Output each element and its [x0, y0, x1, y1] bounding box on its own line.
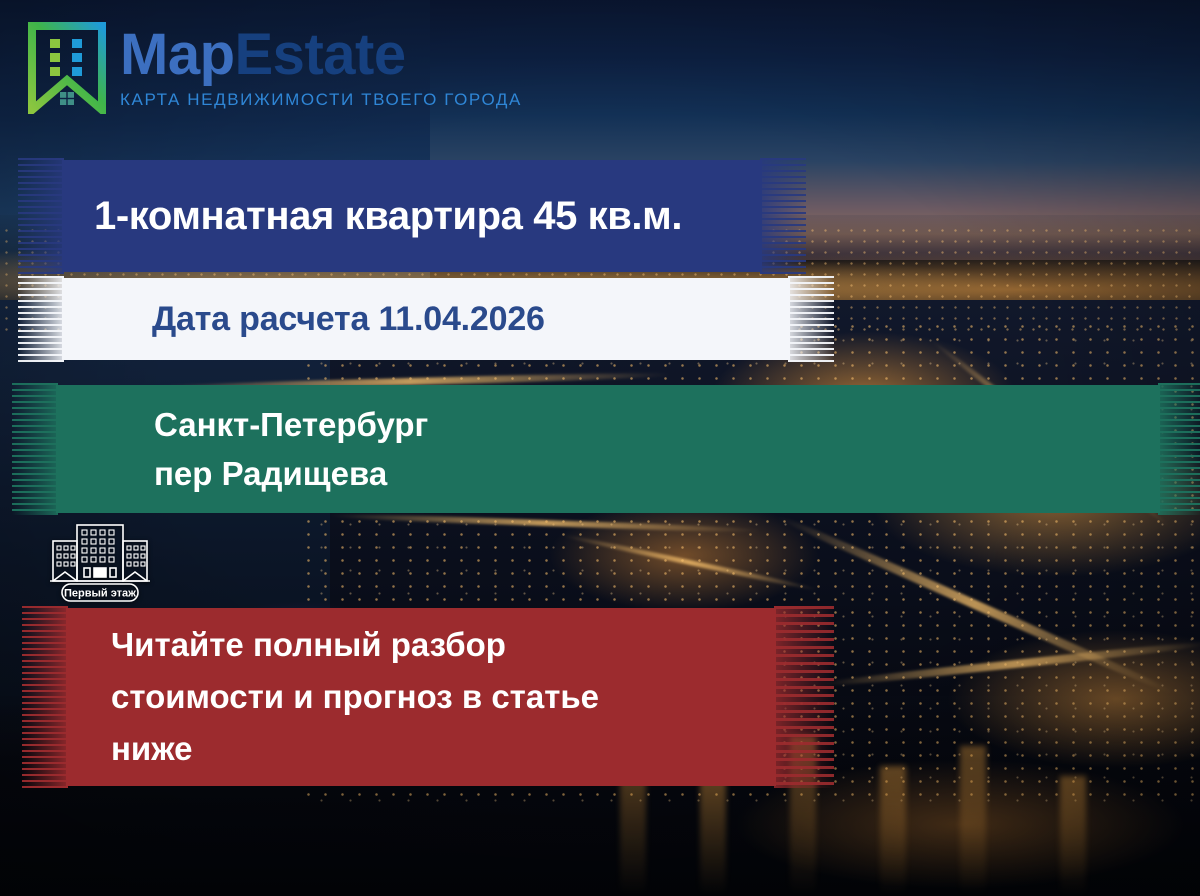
cta-line-3: ниже	[66, 723, 776, 775]
cta-line-2: стоимости и прогноз в статье	[66, 671, 776, 723]
city-name: Санкт-Петербург	[56, 400, 1160, 449]
cta-line-1: Читайте полный разбор	[66, 619, 776, 671]
page-title: 1-комнатная квартира 45 кв.м.	[62, 194, 762, 239]
brand-logo[interactable]: MapEstate КАРТА НЕДВИЖИМОСТИ ТВОЕГО ГОРО…	[28, 22, 522, 114]
watermark-badge: Первый этаж	[48, 508, 152, 604]
location-band: Санкт-Петербург пер Радищева	[56, 385, 1160, 513]
brand-title-part1: Map	[120, 22, 235, 87]
building-facade-icon: Первый этаж	[48, 508, 152, 604]
street-name: пер Радищева	[56, 449, 1160, 498]
brand-wordmark: MapEstate КАРТА НЕДВИЖИМОСТИ ТВОЕГО ГОРО…	[120, 22, 522, 110]
bookmark-building-icon	[28, 22, 106, 114]
headline-band: 1-комнатная квартира 45 кв.м.	[62, 160, 762, 272]
poster: MapEstate КАРТА НЕДВИЖИМОСТИ ТВОЕГО ГОРО…	[0, 0, 1200, 896]
date-band: Дата расчета 11.04.2026	[62, 278, 790, 360]
watermark-label: Первый этаж	[64, 588, 136, 600]
cta-band: Читайте полный разбор стоимости и прогно…	[66, 608, 776, 786]
brand-tagline: КАРТА НЕДВИЖИМОСТИ ТВОЕГО ГОРОДА	[120, 90, 522, 110]
calculation-date: Дата расчета 11.04.2026	[62, 300, 790, 339]
brand-title-part2: Estate	[235, 22, 406, 87]
brand-title: MapEstate	[120, 26, 522, 84]
